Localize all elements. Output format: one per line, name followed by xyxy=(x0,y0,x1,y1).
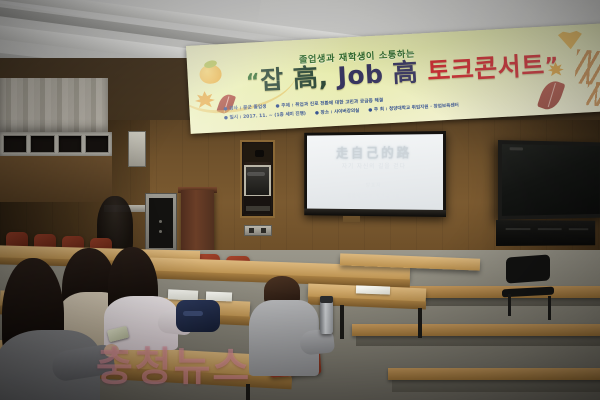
projector-screen: 走自己的路 자기 자신의 길을 걷다 발표자 졸업생 초청 토크콘서트 xyxy=(304,131,446,217)
tv-vent xyxy=(506,228,531,230)
av-shelf-bottom xyxy=(244,196,271,214)
window-curtain xyxy=(0,78,108,134)
rack-knob xyxy=(159,220,162,223)
wall-television xyxy=(498,140,600,220)
projector-screen-surface: 走自己的路 자기 자신의 길을 걷다 발표자 졸업생 초청 토크콘서트 xyxy=(307,134,443,210)
desk-leg xyxy=(340,305,344,339)
ginkgo-leaf-icon xyxy=(558,31,583,50)
monitor-glare xyxy=(247,172,265,176)
thermos-tumbler xyxy=(320,296,333,334)
window-pane xyxy=(30,135,54,153)
outlet-socket xyxy=(261,228,266,233)
tv-base-cabinet xyxy=(496,220,595,246)
desk-leg xyxy=(246,384,250,400)
projector-sub-text: 자기 자신의 길을 걷다 xyxy=(307,161,443,170)
window-pane xyxy=(85,135,109,153)
veined-leaf-icon xyxy=(540,80,562,111)
projector-sub-text-2: 발표자 xyxy=(307,182,443,189)
fern-leaf-icon xyxy=(575,50,600,85)
tv-logo xyxy=(510,147,523,150)
tv-vent xyxy=(538,228,562,230)
av-cabinet xyxy=(240,140,275,218)
rack-face xyxy=(149,198,173,248)
black-chair-leg xyxy=(548,296,551,320)
banner-title-part1: 잡 高, xyxy=(260,62,330,95)
lower-wall-panel xyxy=(0,156,112,202)
camera-icon xyxy=(255,150,264,157)
banner-footer-item: ● 일시 : 2017. 11. ~ (1층 세미 진행) xyxy=(224,111,306,121)
banner-title-part3: 토크콘서트 xyxy=(426,51,545,86)
desk-leg xyxy=(418,308,422,338)
fern-leaf-icon xyxy=(587,81,600,106)
backpack xyxy=(176,300,220,332)
wall-monitor xyxy=(244,165,271,197)
light-switch-plate[interactable] xyxy=(128,131,146,167)
thermos-cap xyxy=(320,296,333,303)
backpack-strap xyxy=(183,311,203,316)
projector-main-text: 走自己的路 xyxy=(307,142,443,162)
tier-step xyxy=(388,368,600,380)
tier-step xyxy=(352,324,600,336)
tv-vent xyxy=(569,228,588,230)
screen-bracket xyxy=(343,216,360,222)
rack-knob xyxy=(159,230,162,233)
projector-sub-text-3: 졸업생 초청 토크콘서트 xyxy=(307,193,443,200)
black-chair-leg xyxy=(508,294,511,316)
outlet-socket xyxy=(249,228,254,233)
banner-title-part2: Job 高 xyxy=(337,58,419,91)
window-pane xyxy=(58,135,82,153)
hand xyxy=(104,344,119,357)
av-deck xyxy=(246,206,270,211)
window-band xyxy=(0,132,112,156)
window-pane xyxy=(3,135,27,153)
tv-panel xyxy=(502,144,600,216)
banner-footer-item: ● 강사 : 문군 졸업생 xyxy=(223,104,266,112)
banner-footer-item: ● 장소 : 사이버강의실 xyxy=(315,108,360,116)
paper-handout xyxy=(356,285,390,294)
black-chair-back xyxy=(506,254,550,283)
photo-scene: 走自己的路 자기 자신의 길을 걷다 발표자 졸업생 초청 토크콘서트 xyxy=(0,0,600,400)
banner-footer-item: ● 주 최 : 청양대학교 취업지원 · 창업보육센터 xyxy=(368,102,459,113)
banner-close-quote: ” xyxy=(544,53,560,78)
wall-outlet xyxy=(244,225,272,236)
